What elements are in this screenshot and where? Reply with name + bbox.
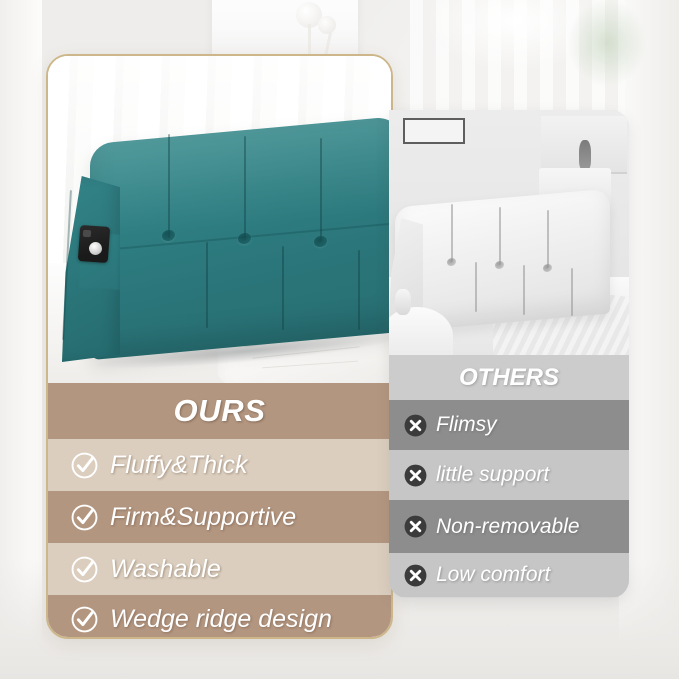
others-feature-row-3[interactable]: Non-removable bbox=[389, 500, 629, 553]
others-feature-label: little support bbox=[436, 463, 549, 487]
check-circle-icon bbox=[70, 503, 99, 532]
pillow-tuft-seam bbox=[244, 136, 246, 240]
others-tuft-seam bbox=[475, 262, 477, 312]
ours-title-bar: OURS bbox=[48, 383, 391, 439]
others-feature-label: Non-removable bbox=[436, 515, 580, 539]
others-tuft-seam bbox=[571, 268, 573, 316]
x-circle-icon bbox=[403, 463, 428, 488]
pillow-tuft-seam bbox=[282, 246, 284, 330]
others-feature-row-4[interactable]: Low comfort bbox=[389, 553, 629, 597]
ours-feature-row-3[interactable]: Washable bbox=[48, 543, 391, 595]
pillow-tuft-seam bbox=[358, 250, 360, 330]
others-wall-frame bbox=[403, 118, 465, 144]
x-circle-icon bbox=[403, 563, 428, 588]
ours-feature-label: Firm&Supportive bbox=[110, 503, 296, 532]
others-title-bar: OTHERS bbox=[389, 355, 629, 400]
check-circle-icon bbox=[70, 555, 99, 584]
others-tuft-seam bbox=[499, 207, 501, 265]
ours-product-photo bbox=[48, 56, 391, 383]
others-comparison-card: OTHERS Flimsy little support Non-removab… bbox=[389, 110, 629, 598]
ours-feature-label: Washable bbox=[110, 555, 221, 584]
flower-bloom-secondary-icon bbox=[318, 16, 336, 34]
others-vase bbox=[579, 140, 591, 170]
teal-wedge-pillow bbox=[56, 130, 391, 365]
ours-feature-row-1[interactable]: Fluffy&Thick bbox=[48, 439, 391, 491]
others-feature-label: Low comfort bbox=[436, 563, 550, 587]
phone-camera-icon bbox=[83, 230, 91, 238]
ours-feature-list: OURS Fluffy&Thick Firm&Supportive Washab… bbox=[48, 383, 391, 639]
pillow-tuft-seam bbox=[320, 138, 322, 242]
others-tuft-seam bbox=[547, 210, 549, 268]
ours-feature-label: Fluffy&Thick bbox=[110, 451, 248, 480]
ours-title: OURS bbox=[174, 393, 266, 429]
ours-feature-row-2[interactable]: Firm&Supportive bbox=[48, 491, 391, 543]
x-circle-icon bbox=[403, 413, 428, 438]
others-title: OTHERS bbox=[459, 364, 559, 392]
window-foliage bbox=[568, 0, 646, 86]
others-decor-object bbox=[395, 289, 411, 315]
pillow-tuft-seam bbox=[206, 242, 208, 328]
others-feature-row-1[interactable]: Flimsy bbox=[389, 400, 629, 450]
check-circle-icon bbox=[70, 605, 99, 634]
check-circle-icon bbox=[70, 451, 99, 480]
ours-comparison-card: OURS Fluffy&Thick Firm&Supportive Washab… bbox=[46, 54, 393, 639]
pillow-tuft-seam bbox=[168, 134, 170, 238]
others-tuft-seam bbox=[523, 265, 525, 315]
others-feature-list: OTHERS Flimsy little support Non-removab… bbox=[389, 355, 629, 597]
others-product-photo bbox=[389, 110, 629, 355]
others-feature-row-2[interactable]: little support bbox=[389, 450, 629, 500]
others-tuft-seam bbox=[451, 204, 453, 262]
others-feature-label: Flimsy bbox=[436, 413, 497, 437]
ours-feature-label: Wedge ridge design bbox=[110, 605, 332, 634]
ours-feature-row-4[interactable]: Wedge ridge design bbox=[48, 595, 391, 639]
x-circle-icon bbox=[403, 514, 428, 539]
